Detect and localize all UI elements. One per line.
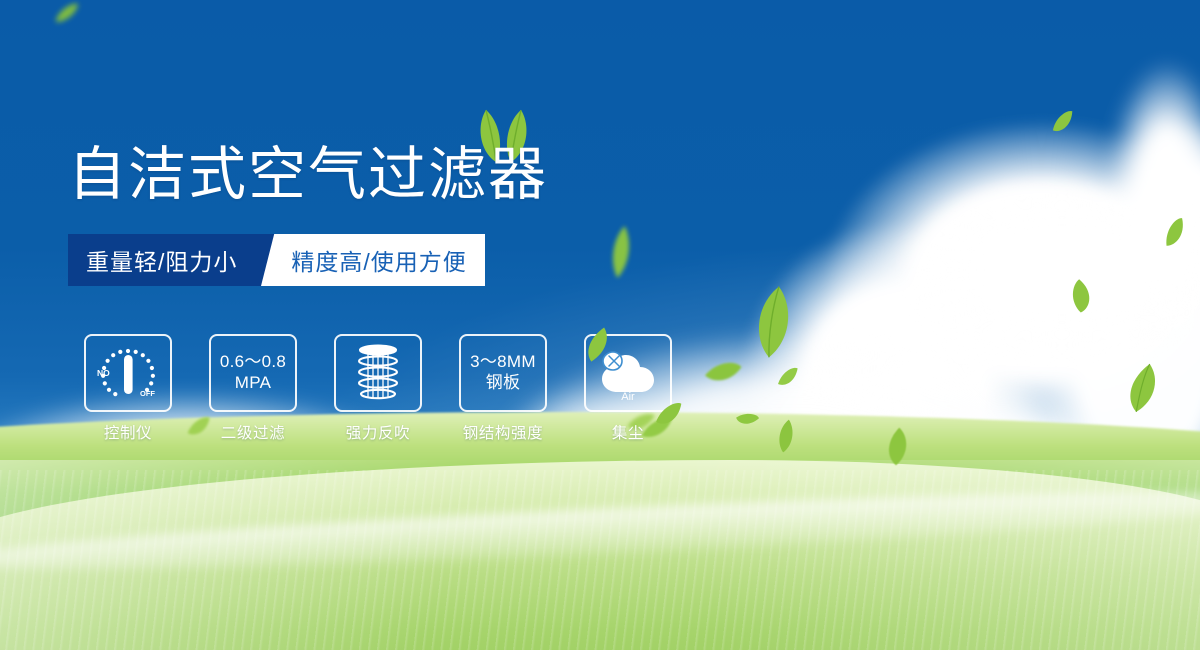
feature-list: NO OFF 控制仪 0.6～0.8 MPA 二级过滤 — [73, 334, 683, 443]
feature-label: 控制仪 — [104, 421, 152, 443]
page-title: 自洁式空气过滤器 — [68, 144, 548, 207]
filter-cartridge-icon — [334, 334, 422, 412]
cloud-right-upper — [810, 60, 1200, 360]
air-cloud-icon: Air — [584, 334, 672, 412]
pressure-text-icon: 0.6～0.8 MPA — [209, 334, 297, 412]
steel-plate-text-icon: 3～8MM 钢板 — [459, 334, 547, 412]
feature-item-two-stage-filter[interactable]: 0.6～0.8 MPA 二级过滤 — [198, 334, 308, 443]
svg-text:OFF: OFF — [140, 389, 155, 398]
svg-text:Air: Air — [621, 391, 635, 400]
feature-text-line-1: 3～8MM — [470, 352, 536, 373]
feature-label: 集尘 — [612, 421, 644, 443]
feature-text-line-1: 0.6～0.8 — [220, 352, 286, 373]
slogan-divider — [257, 234, 287, 286]
leaf-icon — [652, 401, 686, 427]
feature-item-pulse-jet[interactable]: 强力反吹 — [323, 334, 433, 443]
feature-label: 钢结构强度 — [463, 421, 544, 443]
gauge-dial-icon: NO OFF — [84, 334, 172, 412]
feature-item-controller[interactable]: NO OFF 控制仪 — [73, 334, 183, 443]
feature-text-line-2: 钢板 — [486, 373, 521, 394]
slogan-bar: 重量轻/阻力小 精度高/使用方便 — [68, 234, 485, 286]
slogan-right: 精度高/使用方便 — [287, 234, 484, 286]
feature-item-steel-strength[interactable]: 3～8MM 钢板 钢结构强度 — [448, 334, 558, 443]
product-hero-banner: 自洁式空气过滤器 重量轻/阻力小 精度高/使用方便 — [0, 0, 1200, 650]
svg-text:NO: NO — [97, 368, 110, 378]
feature-item-dust-collection[interactable]: Air 集尘 — [573, 334, 683, 443]
slogan-left: 重量轻/阻力小 — [68, 234, 257, 286]
feature-label: 强力反吹 — [346, 421, 410, 443]
feature-text-line-2: MPA — [235, 373, 271, 394]
feature-label: 二级过滤 — [221, 421, 285, 443]
